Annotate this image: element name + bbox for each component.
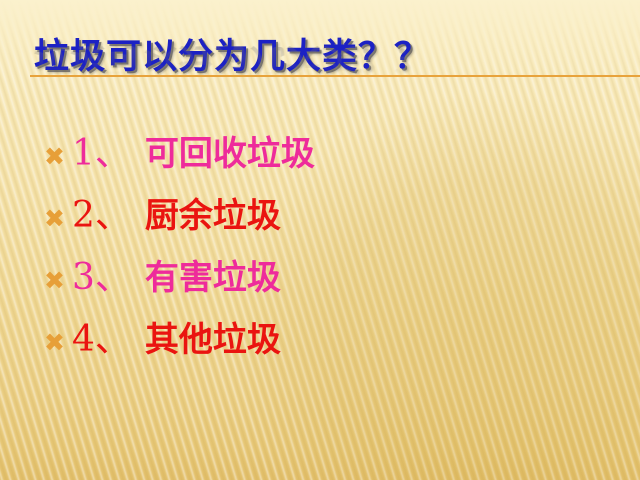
- list-item-number: 3、: [72, 260, 131, 296]
- list-item-number: 2、: [72, 198, 131, 234]
- cross-bullet-icon: ✖: [44, 330, 72, 355]
- list-item-label: 其他垃圾: [145, 323, 281, 357]
- slide-title-block: 垃圾可以分为几大类？？ 垃圾可以分为几大类？？: [34, 36, 624, 110]
- list-item: ✖ 4、 其他垃圾: [44, 322, 604, 384]
- list-item-number: 1、: [72, 136, 131, 172]
- list-item-label: 厨余垃圾: [145, 199, 281, 233]
- slide-canvas: 垃圾可以分为几大类？？ 垃圾可以分为几大类？？ ✖ 1、 可回收垃圾 ✖ 2、 …: [0, 0, 640, 480]
- cross-bullet-icon: ✖: [44, 144, 72, 169]
- list-item-label: 有害垃圾: [145, 261, 281, 295]
- list-item-label: 可回收垃圾: [145, 137, 315, 171]
- page-title: 垃圾可以分为几大类？？: [34, 36, 624, 78]
- title-underline-rule: [30, 75, 640, 77]
- cross-bullet-icon: ✖: [44, 268, 72, 293]
- list-item: ✖ 1、 可回收垃圾: [44, 136, 604, 198]
- list-item: ✖ 2、 厨余垃圾: [44, 198, 604, 260]
- list-item-number: 4、: [72, 322, 131, 358]
- cross-bullet-icon: ✖: [44, 206, 72, 231]
- list-item: ✖ 3、 有害垃圾: [44, 260, 604, 322]
- bullet-list: ✖ 1、 可回收垃圾 ✖ 2、 厨余垃圾 ✖ 3、 有害垃圾 ✖ 4、 其他垃圾: [44, 136, 604, 384]
